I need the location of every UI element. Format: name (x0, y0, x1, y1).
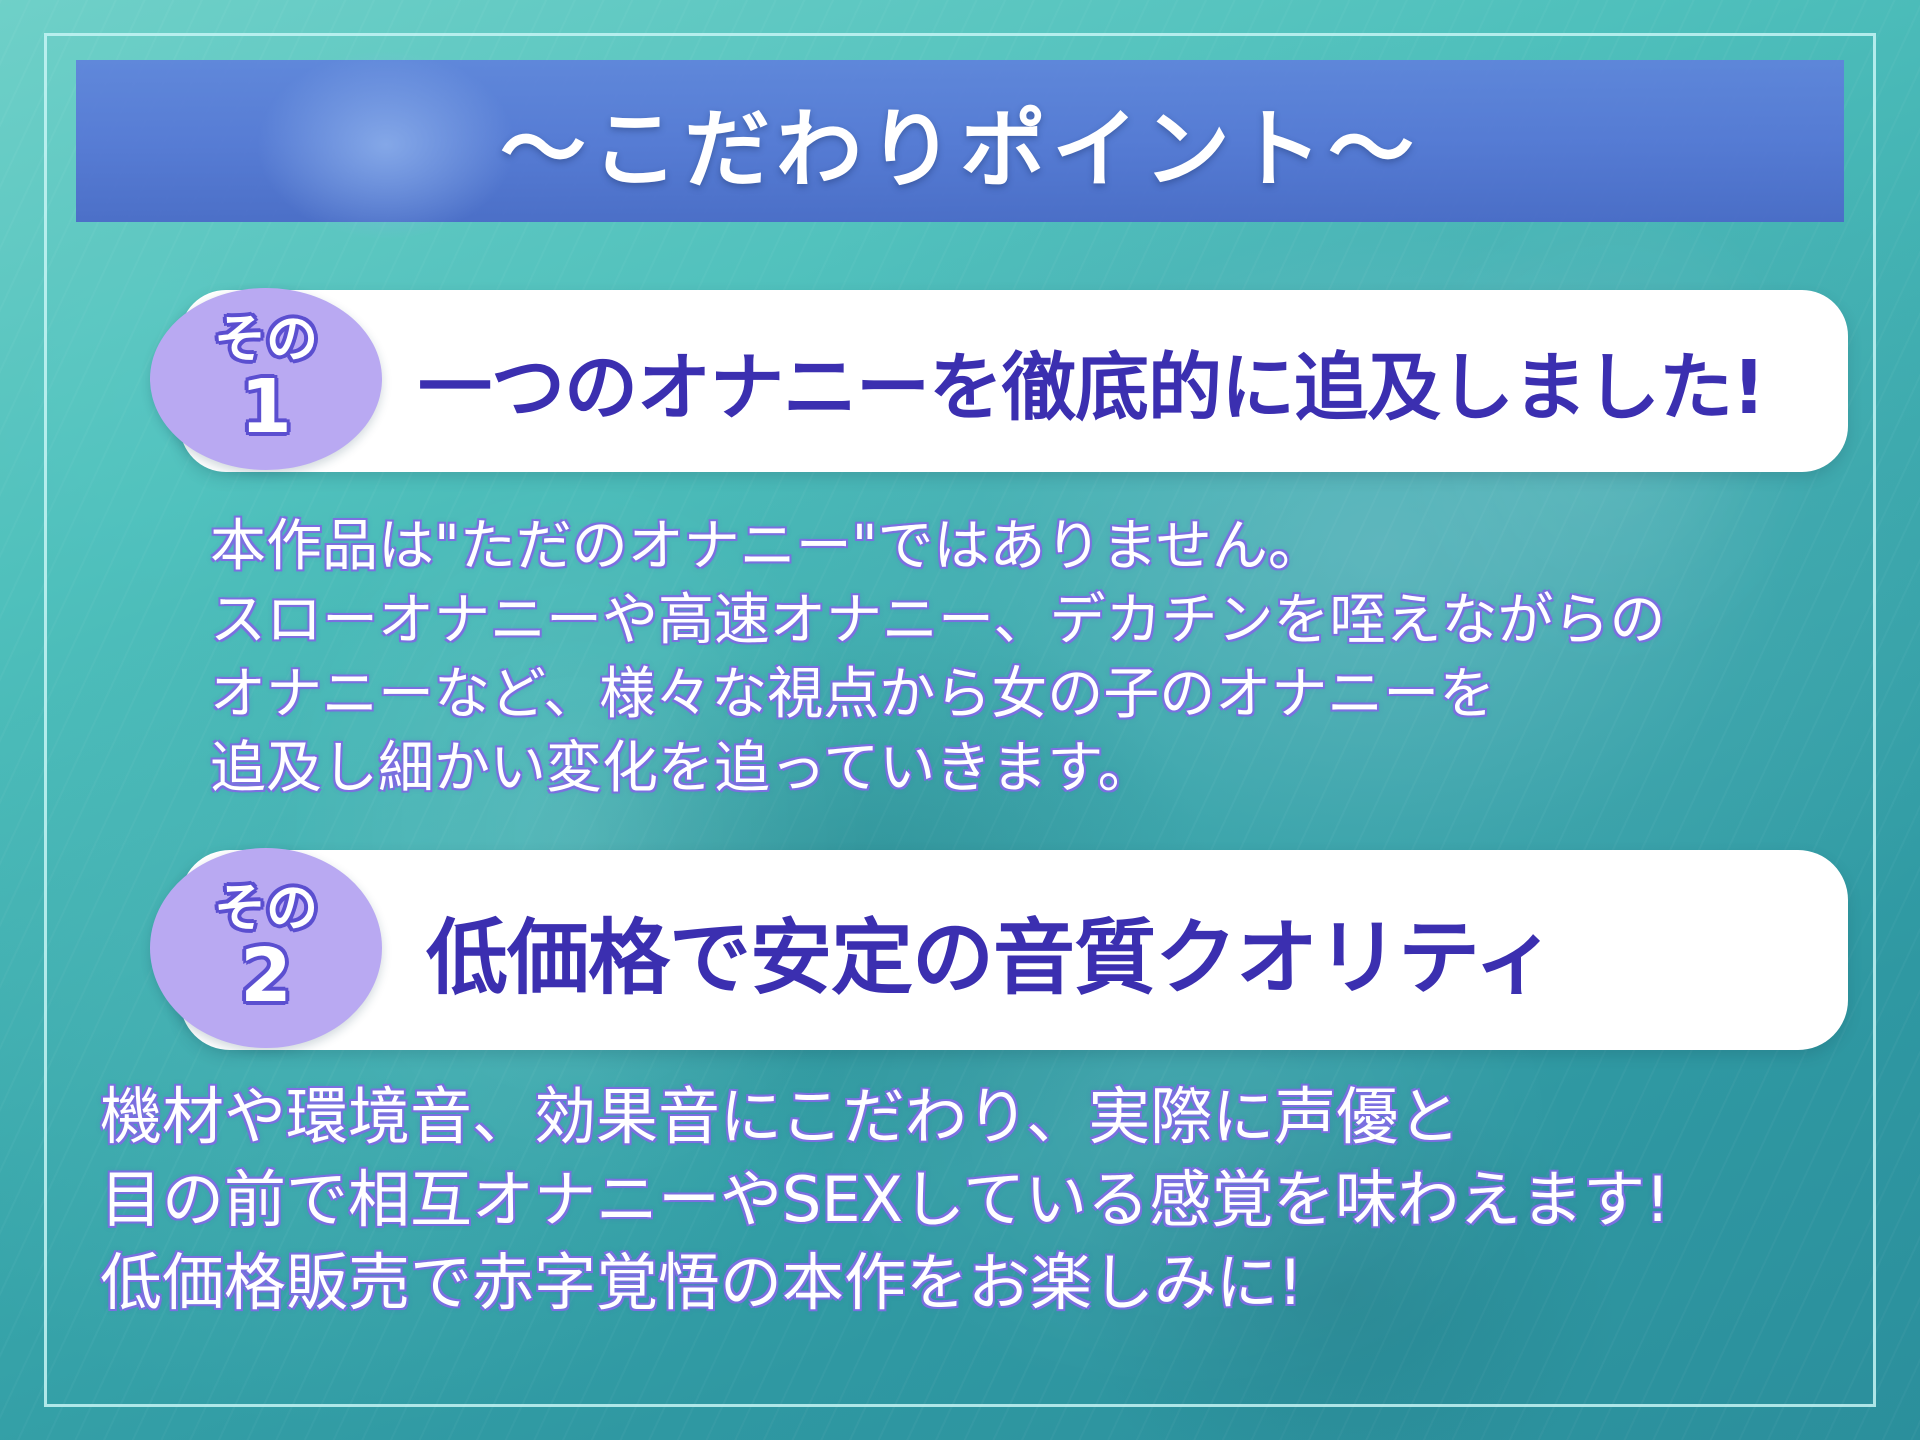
point-2-badge-prefix: その (214, 883, 318, 935)
point-1-body-line: スローオナニーや高速オナニー、デカチンを咥えながらの (210, 584, 1830, 658)
point-1-card: 一つのオナニーを徹底的に追及しました! (180, 290, 1848, 472)
point-1-badge-number: 1 (240, 370, 292, 444)
point-2-title: 低価格で安定の音質クオリティ (426, 891, 1555, 1010)
point-1-badge-prefix: その (214, 314, 318, 366)
point-2-body-line: 機材や環境音、効果音にこだわり、実際に声優と (100, 1075, 1860, 1158)
point-1-body-line: 本作品は"ただのオナニー"ではありません。 (210, 510, 1830, 584)
point-2-body: 機材や環境音、効果音にこだわり、実際に声優と 目の前で相互オナニーやSEXしてい… (100, 1075, 1860, 1324)
point-1-body-line: 追及し細かい変化を追っていきます。 (210, 732, 1830, 806)
point-2-badge: その 2 (150, 848, 382, 1048)
promo-page: ～こだわりポイント～ 一つのオナニーを徹底的に追及しました! その 1 本作品は… (0, 0, 1920, 1440)
point-2-body-line: 低価格販売で赤字覚悟の本作をお楽しみに! (100, 1241, 1860, 1324)
point-2-body-line: 目の前で相互オナニーやSEXしている感覚を味わえます! (100, 1158, 1860, 1241)
header-banner: ～こだわりポイント～ (76, 60, 1844, 222)
point-1-title: 一つのオナニーを徹底的に追及しました! (418, 328, 1765, 435)
point-2-badge-number: 2 (240, 939, 292, 1013)
point-2-card: 低価格で安定の音質クオリティ (180, 850, 1848, 1050)
point-1-badge: その 1 (150, 288, 382, 470)
point-1-body: 本作品は"ただのオナニー"ではありません。 スローオナニーや高速オナニー、デカチ… (210, 510, 1830, 806)
point-1-body-line: オナニーなど、様々な視点から女の子のオナニーを (210, 658, 1830, 732)
page-title: ～こだわりポイント～ (76, 60, 1844, 222)
